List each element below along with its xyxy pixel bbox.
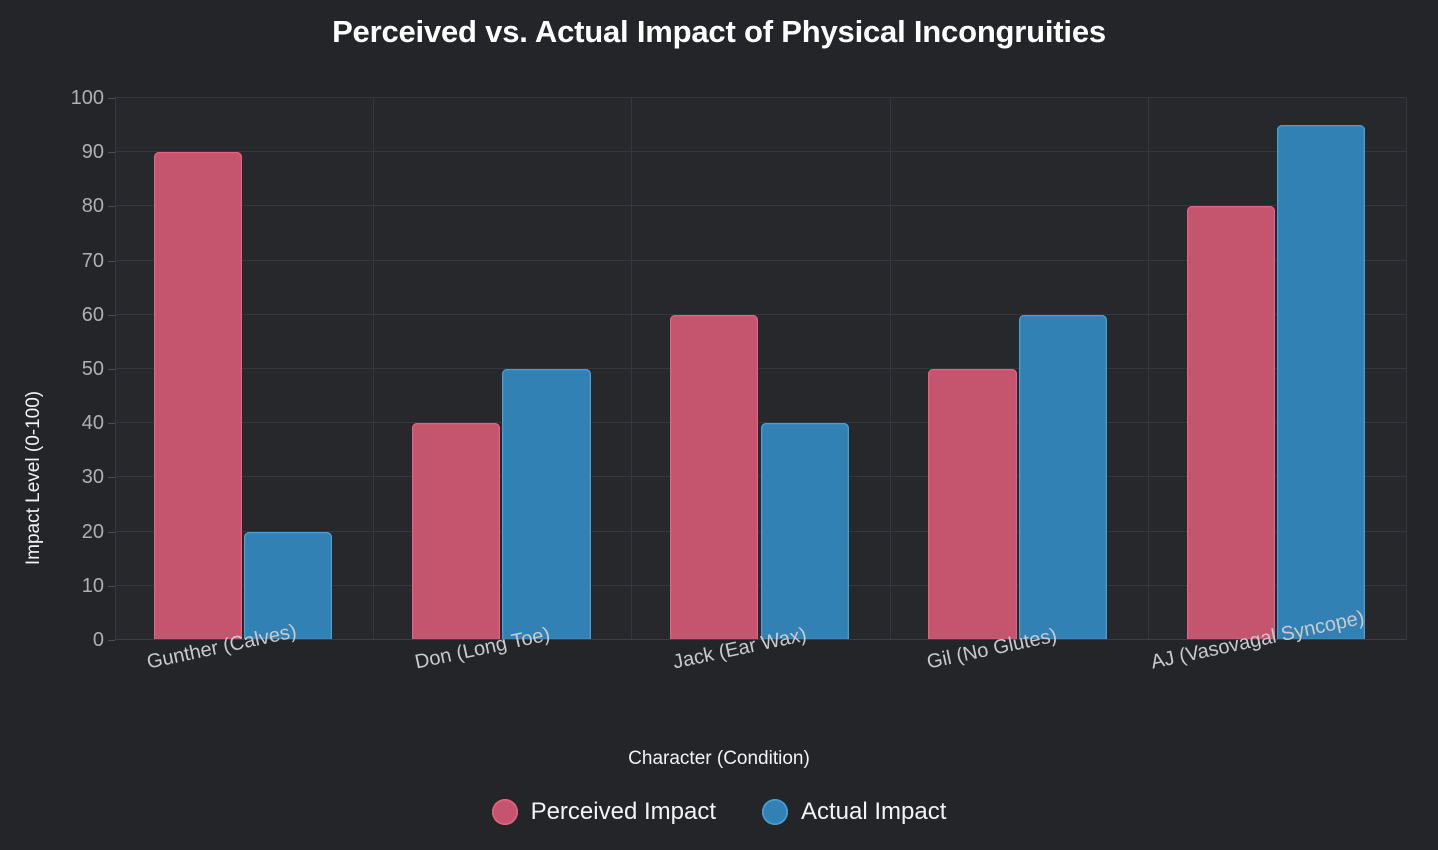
y-axis-tick-label: 90 xyxy=(40,142,104,162)
y-axis-tick-mark xyxy=(108,369,115,370)
x-axis-title: Character (Condition) xyxy=(0,748,1438,770)
bar-actual-impact-2[interactable] xyxy=(761,423,849,640)
y-axis-tick-label: 80 xyxy=(40,196,104,216)
y-axis-tick-label: 100 xyxy=(40,88,104,108)
y-axis-tick-mark xyxy=(108,261,115,262)
bar-actual-impact-3[interactable] xyxy=(1019,315,1107,640)
bars-layer xyxy=(115,98,1406,640)
y-axis-tick-mark xyxy=(108,206,115,207)
bar-perceived-impact-0[interactable] xyxy=(154,152,242,640)
legend-swatch-icon xyxy=(492,799,518,825)
y-axis-tick-mark xyxy=(108,152,115,153)
y-axis-tick-mark xyxy=(108,423,115,424)
y-axis-tick-label: 50 xyxy=(40,359,104,379)
y-axis-tick-mark xyxy=(108,640,115,641)
y-axis-tick-label: 10 xyxy=(40,576,104,596)
plot-area xyxy=(115,98,1406,640)
y-axis-tick-label: 0 xyxy=(40,630,104,650)
legend-item-actual-impact[interactable]: Actual Impact xyxy=(762,798,946,826)
bar-perceived-impact-4[interactable] xyxy=(1187,206,1275,640)
legend-label: Actual Impact xyxy=(801,798,946,826)
y-axis-tick-mark xyxy=(108,586,115,587)
y-axis-tick-label: 60 xyxy=(40,305,104,325)
y-axis-tick-label: 70 xyxy=(40,251,104,271)
y-axis-tick-mark xyxy=(108,315,115,316)
legend-swatch-icon xyxy=(762,799,788,825)
y-axis-tick-mark xyxy=(108,532,115,533)
bar-perceived-impact-2[interactable] xyxy=(670,315,758,640)
y-axis-tick-label: 20 xyxy=(40,522,104,542)
bar-perceived-impact-1[interactable] xyxy=(412,423,500,640)
y-axis-tick-label: 30 xyxy=(40,467,104,487)
bar-perceived-impact-3[interactable] xyxy=(928,369,1016,640)
chart-title: Perceived vs. Actual Impact of Physical … xyxy=(0,14,1438,50)
y-axis-title: Impact Level (0-100) xyxy=(23,238,45,718)
bar-chart-figure: Perceived vs. Actual Impact of Physical … xyxy=(0,0,1438,850)
y-axis-tick-label: 40 xyxy=(40,413,104,433)
legend-item-perceived-impact[interactable]: Perceived Impact xyxy=(492,798,716,826)
y-axis-tick-mark xyxy=(108,477,115,478)
chart-legend: Perceived ImpactActual Impact xyxy=(0,798,1438,826)
legend-label: Perceived Impact xyxy=(531,798,716,826)
bar-actual-impact-1[interactable] xyxy=(502,369,590,640)
gridline-vertical xyxy=(1406,98,1407,640)
bar-actual-impact-4[interactable] xyxy=(1277,125,1365,640)
y-axis-tick-mark xyxy=(108,98,115,99)
